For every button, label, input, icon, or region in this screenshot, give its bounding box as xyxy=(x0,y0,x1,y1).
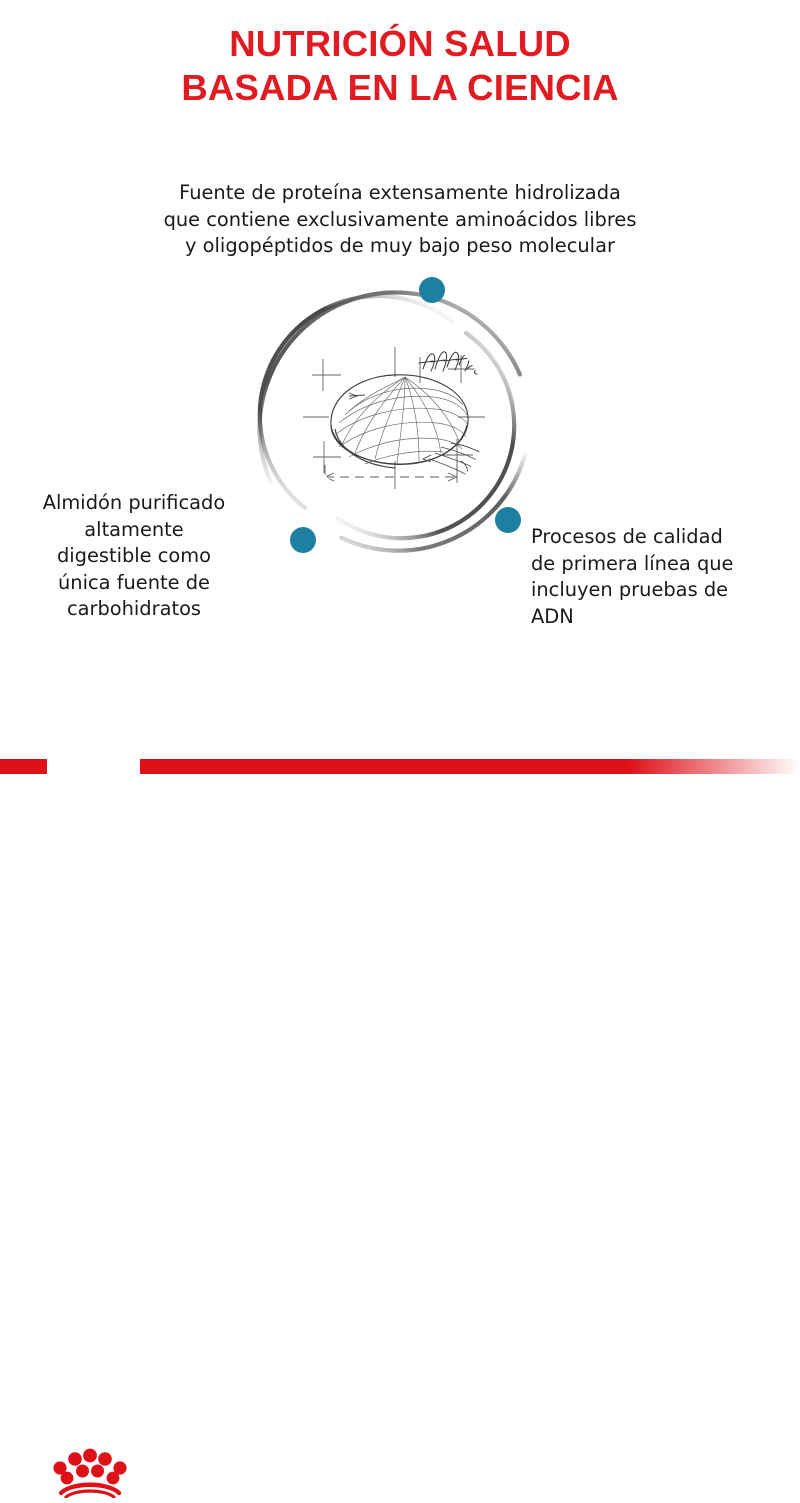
callout-top-line-2: que contiene exclusivamente aminoácidos … xyxy=(100,207,700,234)
callout-top-text: Fuente de proteína extensamente hidroliz… xyxy=(100,180,700,260)
page-title-line-1: NUTRICIÓN SALUD xyxy=(0,22,800,66)
callout-right-line-3: incluyen pruebas de xyxy=(531,577,771,604)
callout-left-line-2: altamente xyxy=(8,517,260,544)
callout-right-line-4: ADN xyxy=(531,604,771,631)
sketch-signature xyxy=(419,352,483,374)
outer-arc-upper xyxy=(260,292,520,481)
outer-ring xyxy=(260,292,527,550)
callout-top-line-3: y oligopéptidos de muy bajo peso molecul… xyxy=(100,233,700,260)
callout-left-line-5: carbohidratos xyxy=(8,596,260,623)
accent-dot-bottom-left xyxy=(290,527,316,553)
crown-arcs xyxy=(61,1485,119,1497)
poster-canvas: NUTRICIÓN SALUD BASADA EN LA CIENCIA Fue… xyxy=(0,0,800,800)
inner-arc-right xyxy=(337,333,514,538)
sketch-dimension-line xyxy=(325,465,457,487)
royal-canin-crown-logo xyxy=(52,1446,128,1498)
footer-rule-left xyxy=(0,759,47,774)
callout-right-line-1: Procesos de calidad xyxy=(531,524,771,551)
callout-right-text: Procesos de calidad de primera línea que… xyxy=(531,524,771,630)
kibble-sketch-icon xyxy=(303,347,489,489)
callout-top-line-1: Fuente de proteína extensamente hidroliz… xyxy=(100,180,700,207)
page-title-line-2: BASADA EN LA CIENCIA xyxy=(0,66,800,110)
callout-left-line-4: única fuente de xyxy=(8,570,260,597)
accent-dot-top xyxy=(419,277,445,303)
callout-right-line-2: de primera línea que xyxy=(531,551,771,578)
footer-rule-right xyxy=(140,759,800,774)
page-title: NUTRICIÓN SALUD BASADA EN LA CIENCIA xyxy=(0,22,800,110)
science-diagram xyxy=(245,265,545,565)
accent-dots xyxy=(290,277,521,553)
inner-arc-left xyxy=(260,296,452,508)
sketch-chamfer-lines xyxy=(429,443,489,481)
callout-left-line-3: digestible como xyxy=(8,543,260,570)
crown-dots xyxy=(53,1449,126,1485)
accent-dot-right xyxy=(495,507,521,533)
callout-left-line-1: Almidón purificado xyxy=(8,490,260,517)
footer xyxy=(0,720,800,800)
callout-left-text: Almidón purificado altamente digestible … xyxy=(8,490,260,623)
